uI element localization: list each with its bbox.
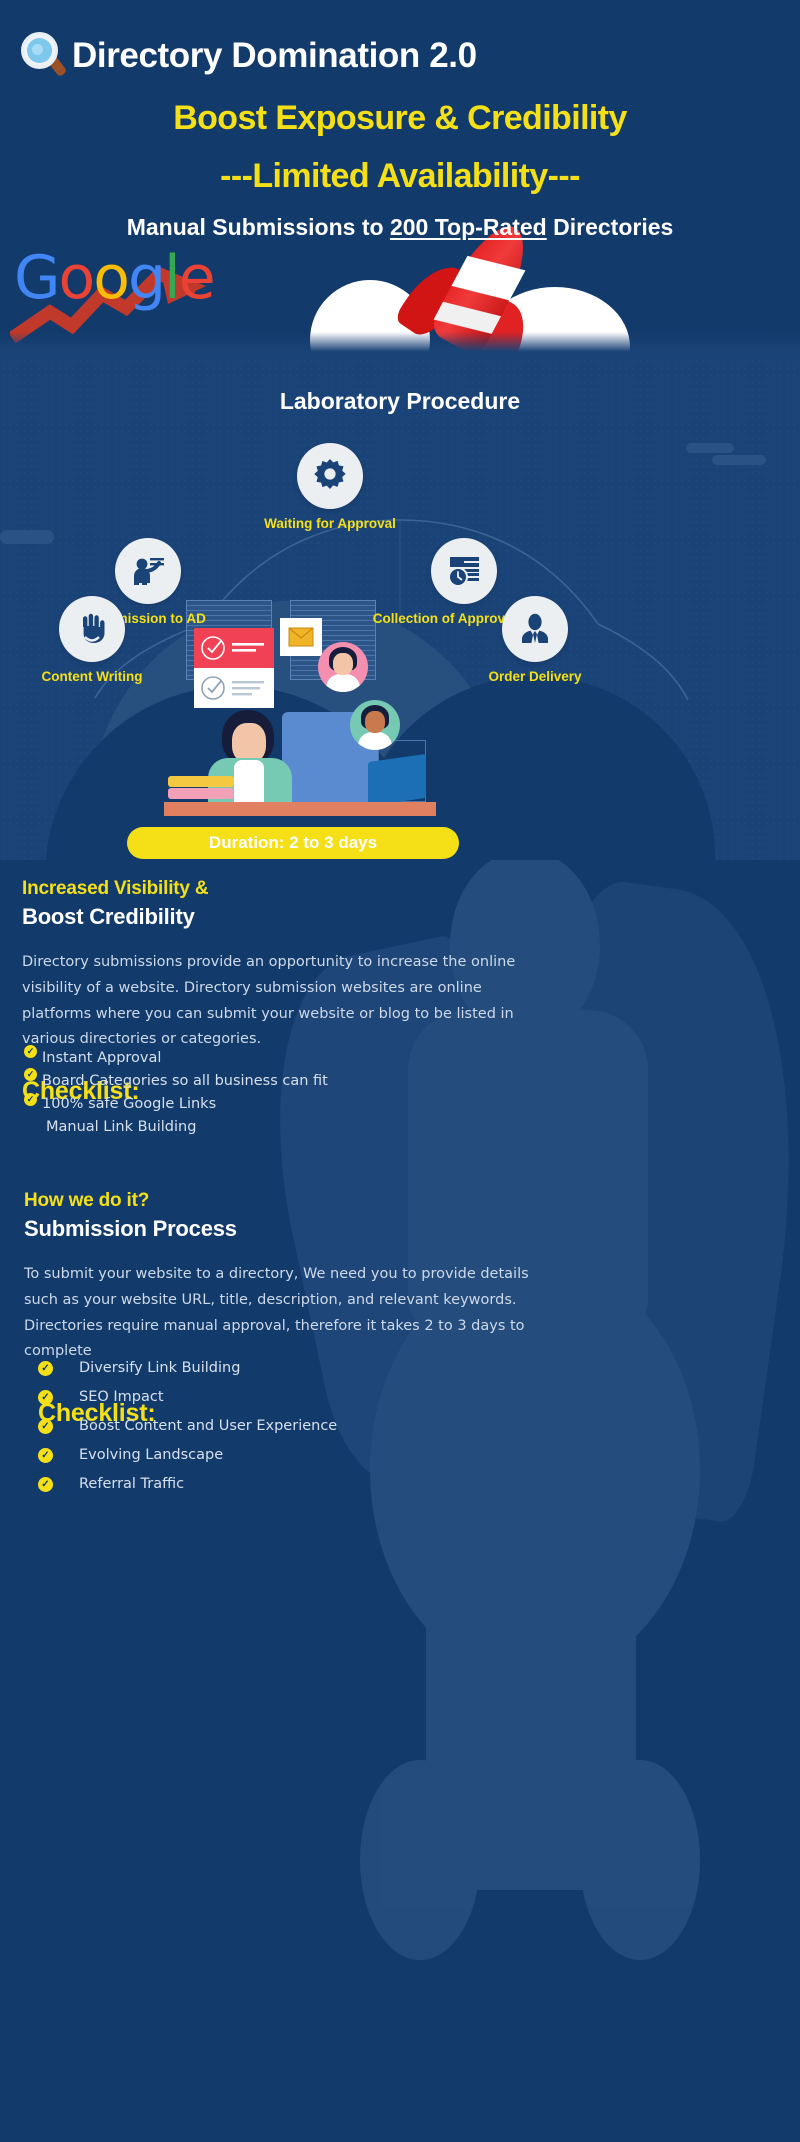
checklist-item[interactable]: ✓ Referral Traffic xyxy=(38,1476,598,1492)
check-icon: ✓ xyxy=(24,1045,37,1058)
tagline-prefix: Manual Submissions to xyxy=(127,214,390,240)
header-subtitle-primary: Boost Exposure & Credibility xyxy=(0,99,800,138)
checklist-item[interactable]: ✓ Evolving Landscape xyxy=(38,1447,598,1463)
step-label: Order Delivery xyxy=(400,669,670,684)
checklist-item-label: 100% safe Google Links xyxy=(42,1096,216,1112)
person-tie-icon xyxy=(502,596,568,662)
checklist-item-label: SEO Impact xyxy=(79,1389,164,1405)
task-card-white xyxy=(194,668,274,708)
tagline-suffix: Directories xyxy=(547,214,674,240)
step-label: Content Writing xyxy=(0,669,202,684)
check-icon: ✓ xyxy=(38,1419,53,1434)
magnifier-icon xyxy=(18,30,66,82)
checklist-item-label: Boost Content and User Experience xyxy=(79,1418,337,1434)
process-heading: Submission Process xyxy=(24,1216,644,1242)
header-tagline: Manual Submissions to 200 Top-Rated Dire… xyxy=(0,212,800,243)
visibility-heading: Boost Credibility xyxy=(22,904,622,930)
step-label: Waiting for Approval xyxy=(230,516,430,531)
process-checklist: ✓ Diversify Link Building ✓ SEO Impact ✓… xyxy=(38,1360,598,1505)
checklist-item-label: Referral Traffic xyxy=(79,1476,184,1492)
procedure-title: Laboratory Procedure xyxy=(0,388,800,415)
desk xyxy=(164,802,436,816)
check-icon: ✓ xyxy=(38,1361,53,1376)
task-card-red xyxy=(194,628,274,668)
avatar xyxy=(318,642,368,692)
document-clock-icon xyxy=(431,538,497,604)
check-icon: ✓ xyxy=(38,1390,53,1405)
laptop xyxy=(368,754,426,806)
google-logo: Google xyxy=(14,248,214,308)
checklist-item[interactable]: ✓ SEO Impact xyxy=(38,1389,598,1405)
checklist-item-label: Diversify Link Building xyxy=(79,1360,240,1376)
avatar xyxy=(350,700,400,750)
content-section: Increased Visibility & Boost Credibility… xyxy=(0,860,800,2142)
process-paragraph: To submit your website to a directory, W… xyxy=(24,1262,544,1365)
header-subtitle-availability: ---Limited Availability--- xyxy=(0,157,800,196)
step-content-writing[interactable]: Content Writing xyxy=(0,596,202,684)
book-stack xyxy=(168,776,234,804)
checklist-item[interactable]: ✓ Diversify Link Building xyxy=(38,1360,598,1376)
check-icon: ✓ xyxy=(38,1448,53,1463)
checklist-item-label: Manual Link Building xyxy=(46,1119,196,1135)
check-icon: ✓ xyxy=(24,1093,37,1106)
check-icon: ✓ xyxy=(38,1477,53,1492)
email-icon xyxy=(280,618,322,656)
header-title-row: Directory Domination 2.0 xyxy=(18,30,477,82)
presenter-icon xyxy=(115,538,181,604)
header-divider xyxy=(0,332,800,358)
procedure-section: Laboratory Procedure xyxy=(0,358,800,860)
checklist-item[interactable]: ✓ Boost Content and User Experience xyxy=(38,1418,598,1434)
visibility-block: Increased Visibility & Boost Credibility… xyxy=(22,878,622,1106)
checklist-item-label: Evolving Landscape xyxy=(79,1447,223,1463)
visibility-eyebrow: Increased Visibility & xyxy=(22,878,622,900)
tagline-highlight: 200 Top-Rated xyxy=(390,214,547,240)
hand-icon xyxy=(59,596,125,662)
gear-icon xyxy=(297,443,363,509)
visibility-paragraph: Directory submissions provide an opportu… xyxy=(22,950,542,1053)
page-title: Directory Domination 2.0 xyxy=(72,36,477,76)
step-waiting-for-approval[interactable]: Waiting for Approval xyxy=(230,443,430,531)
header-section: Google Directory Domination 2.0 xyxy=(0,0,800,358)
process-eyebrow: How we do it? xyxy=(24,1190,644,1212)
checklist-item-label: Board Categories so all business can fit xyxy=(42,1073,328,1089)
step-order-delivery[interactable]: Order Delivery xyxy=(400,596,670,684)
infographic-page: Google Directory Domination 2.0 xyxy=(0,0,800,2142)
checklist-item-label: Instant Approval xyxy=(42,1050,161,1066)
duration-badge: Duration: 2 to 3 days xyxy=(127,827,459,859)
check-icon: ✓ xyxy=(24,1068,37,1081)
